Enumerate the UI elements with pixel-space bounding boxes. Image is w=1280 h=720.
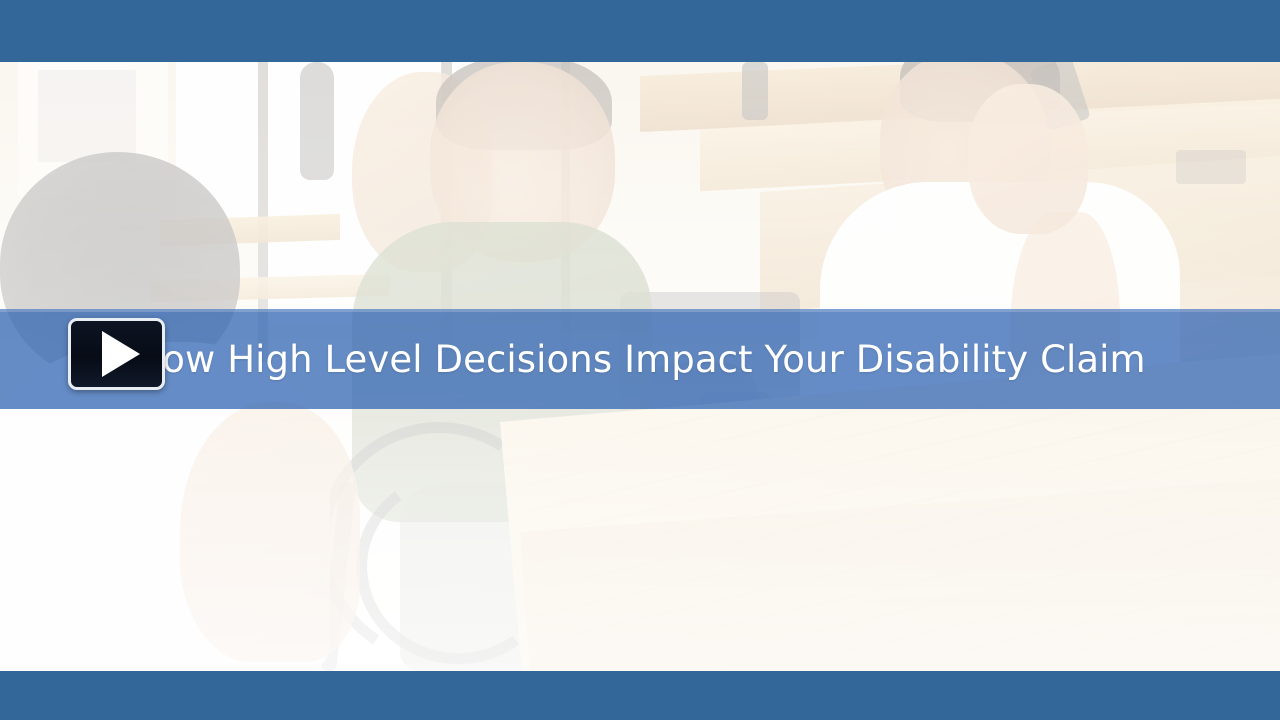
caption-band: How High Level Decisions Impact Your Dis… — [0, 309, 1280, 409]
shelf-prop — [742, 62, 768, 120]
wall-panel — [38, 70, 136, 162]
shelf-prop — [1176, 150, 1246, 184]
person-back-to-camera-arm — [180, 402, 360, 662]
video-thumbnail-player[interactable]: How High Level Decisions Impact Your Dis… — [0, 0, 1280, 720]
play-button[interactable] — [68, 318, 165, 390]
top-letterbox-bar — [0, 0, 1280, 62]
video-title: How High Level Decisions Impact Your Dis… — [134, 341, 1145, 378]
bottom-letterbox-bar — [0, 671, 1280, 720]
shelf-prop — [300, 62, 334, 180]
play-icon — [102, 331, 140, 377]
person-white-shirt-hand — [968, 84, 1088, 234]
